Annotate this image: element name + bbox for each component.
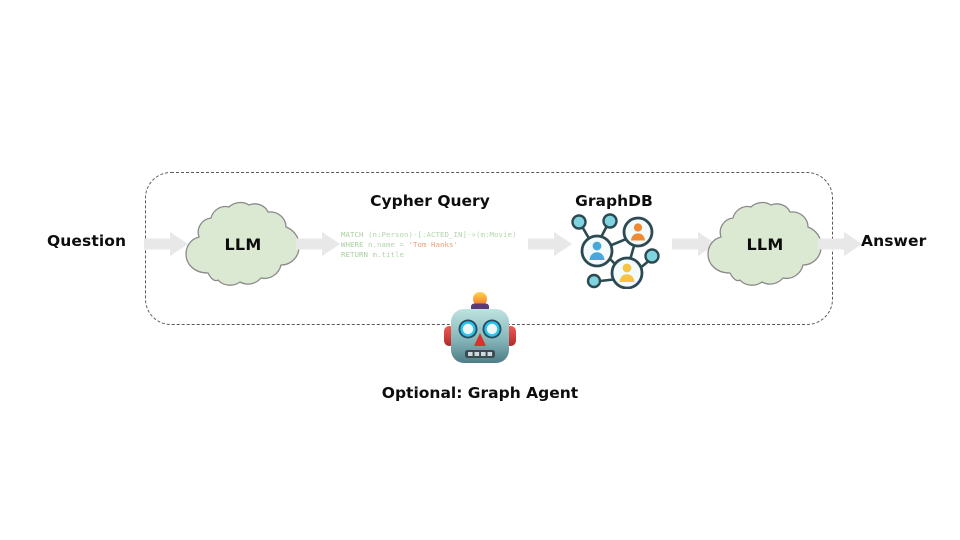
cypher-code-block: MATCH (n:Person)-[:ACTED_IN]->(m:Movie) … [341,230,517,261]
code-line3-keyword: RETURN [341,250,373,259]
caption-optional-graph-agent: Optional: Graph Agent [330,384,630,402]
input-label-question: Question [47,232,126,250]
code-line3-body: m.title [373,250,405,259]
code-line1-body: (n:Person)-[:ACTED_IN]->(m:Movie) [368,230,517,239]
llm-label-right: LLM [704,235,826,254]
heading-graphdb: GraphDB [556,192,672,210]
robot-icon [441,291,519,369]
output-label-answer: Answer [861,232,926,250]
diagram-canvas: Question Answer LLM Cypher Query MATCH (… [0,0,960,540]
code-line2-body: n.name = [368,240,409,249]
llm-node-right: LLM [704,201,826,287]
code-line2-keyword: WHERE [341,240,368,249]
llm-node-left: LLM [182,201,304,287]
code-line2-string: 'Tom Hanks' [409,240,459,249]
arrow-llm-to-answer [818,231,862,257]
arrow-llm-to-cypher [296,231,340,257]
llm-label-left: LLM [182,235,304,254]
graph-network-icon [566,211,662,289]
code-line1-keyword: MATCH [341,230,368,239]
heading-cypher-query: Cypher Query [352,192,508,210]
